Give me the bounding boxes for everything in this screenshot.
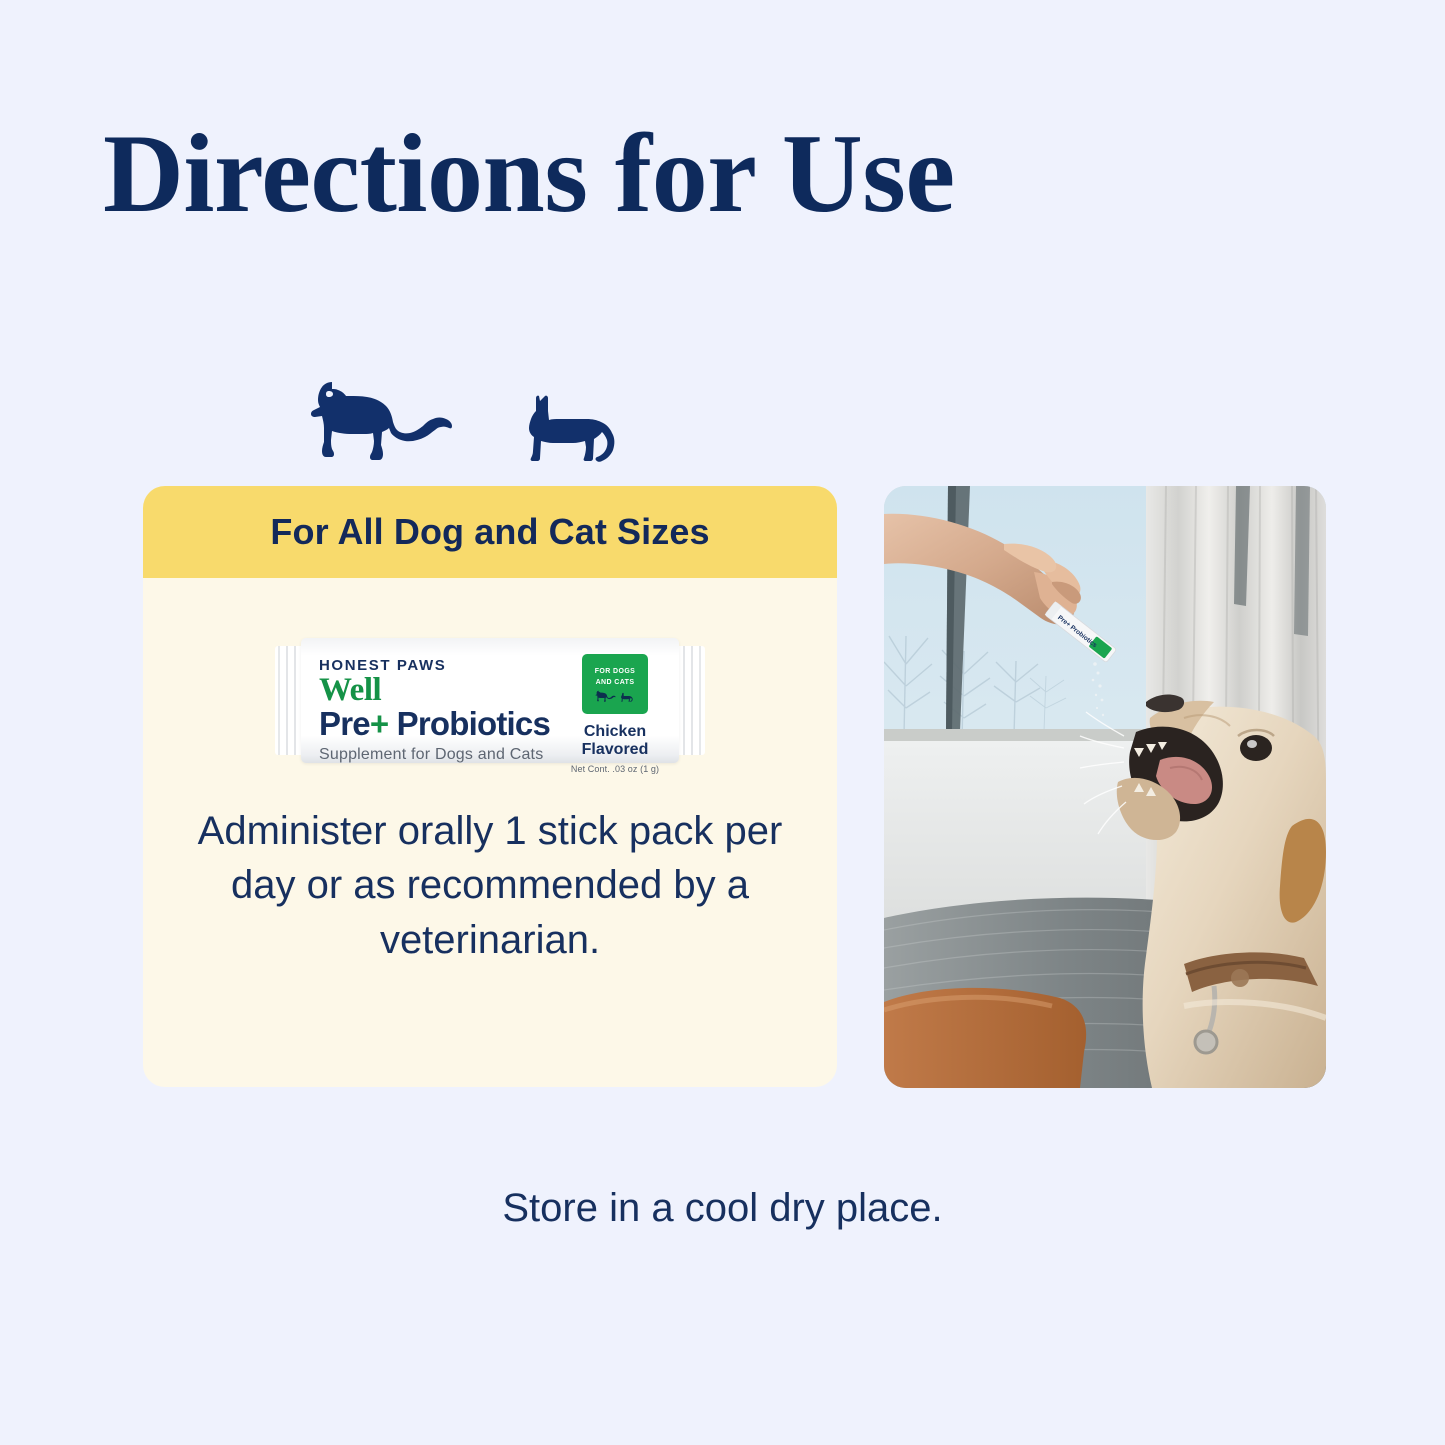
directions-card: For All Dog and Cat Sizes HONEST PAWS We… <box>143 486 837 1087</box>
dosage-instructions: Administer orally 1 stick pack per day o… <box>183 804 797 967</box>
badge-dog-icon <box>594 689 616 702</box>
product-usage-photo: Pre+ Probiotics <box>884 486 1326 1088</box>
pack-product-name-part2: Probiotics <box>388 705 550 742</box>
pack-product-name: Pre+ Probiotics <box>319 707 550 742</box>
pack-product-name-part1: Pre <box>319 705 370 742</box>
stick-pack: HONEST PAWS Well Pre+ Probiotics Supplem… <box>275 638 705 763</box>
for-dogs-and-cats-badge: FOR DOGS AND CATS <box>582 654 648 714</box>
directions-for-use-page: Directions for Use For All Dog and Cat S… <box>0 0 1445 1445</box>
product-pack-illustration: HONEST PAWS Well Pre+ Probiotics Supplem… <box>143 638 837 763</box>
badge-line-2: AND CATS <box>596 679 635 687</box>
pet-icons-row <box>300 352 680 462</box>
pack-net-contents: Net Cont. .03 oz (1 g) <box>569 764 661 774</box>
card-header-label: For All Dog and Cat Sizes <box>270 511 709 553</box>
pack-flavor-line-1: Chicken <box>569 723 661 741</box>
storage-note: Store in a cool dry place. <box>0 1186 1445 1231</box>
page-title: Directions for Use <box>103 118 955 230</box>
pack-product-line: Well <box>319 675 550 706</box>
cat-silhouette-icon <box>521 390 646 462</box>
badge-cat-icon <box>620 692 637 702</box>
dog-silhouette-icon <box>300 370 455 462</box>
pack-product-plus: + <box>370 705 388 742</box>
pack-right-column: FOR DOGS AND CATS Chicken <box>569 654 661 774</box>
pack-text-block: HONEST PAWS Well Pre+ Probiotics Supplem… <box>319 657 550 764</box>
card-header-banner: For All Dog and Cat Sizes <box>143 486 837 578</box>
pack-flavor: Chicken Flavored <box>569 723 661 758</box>
badge-line-1: FOR DOGS <box>595 668 636 676</box>
pack-subtitle: Supplement for Dogs and Cats <box>319 746 550 764</box>
badge-pet-icons <box>594 689 637 702</box>
pack-flavor-line-2: Flavored <box>569 741 661 759</box>
